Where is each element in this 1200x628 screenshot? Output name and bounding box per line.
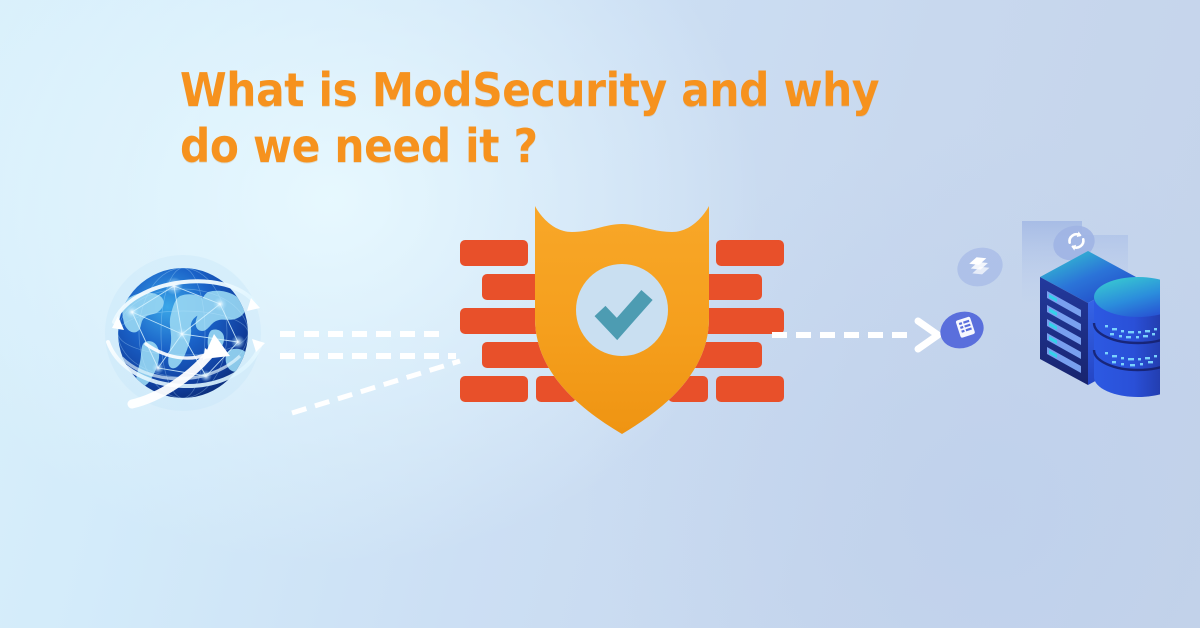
firewall-shield-icon [452, 198, 792, 448]
web-application-firewall [452, 198, 792, 448]
check-circle [576, 264, 668, 356]
page-title: What is ModSecurity and why do we need i… [180, 62, 944, 174]
internet-globe [88, 238, 278, 428]
server-database-icon [940, 215, 1160, 415]
banner-canvas: What is ModSecurity and why do we need i… [0, 0, 1200, 628]
stacked-arrows-icon [952, 242, 1007, 292]
firewall-to-server-connector [770, 305, 960, 365]
document-list-icon [940, 306, 988, 354]
dashed-arrow-icon [770, 305, 960, 365]
server-and-database [940, 215, 1160, 415]
database-cylinder [1094, 277, 1160, 397]
globe-icon [88, 238, 278, 428]
